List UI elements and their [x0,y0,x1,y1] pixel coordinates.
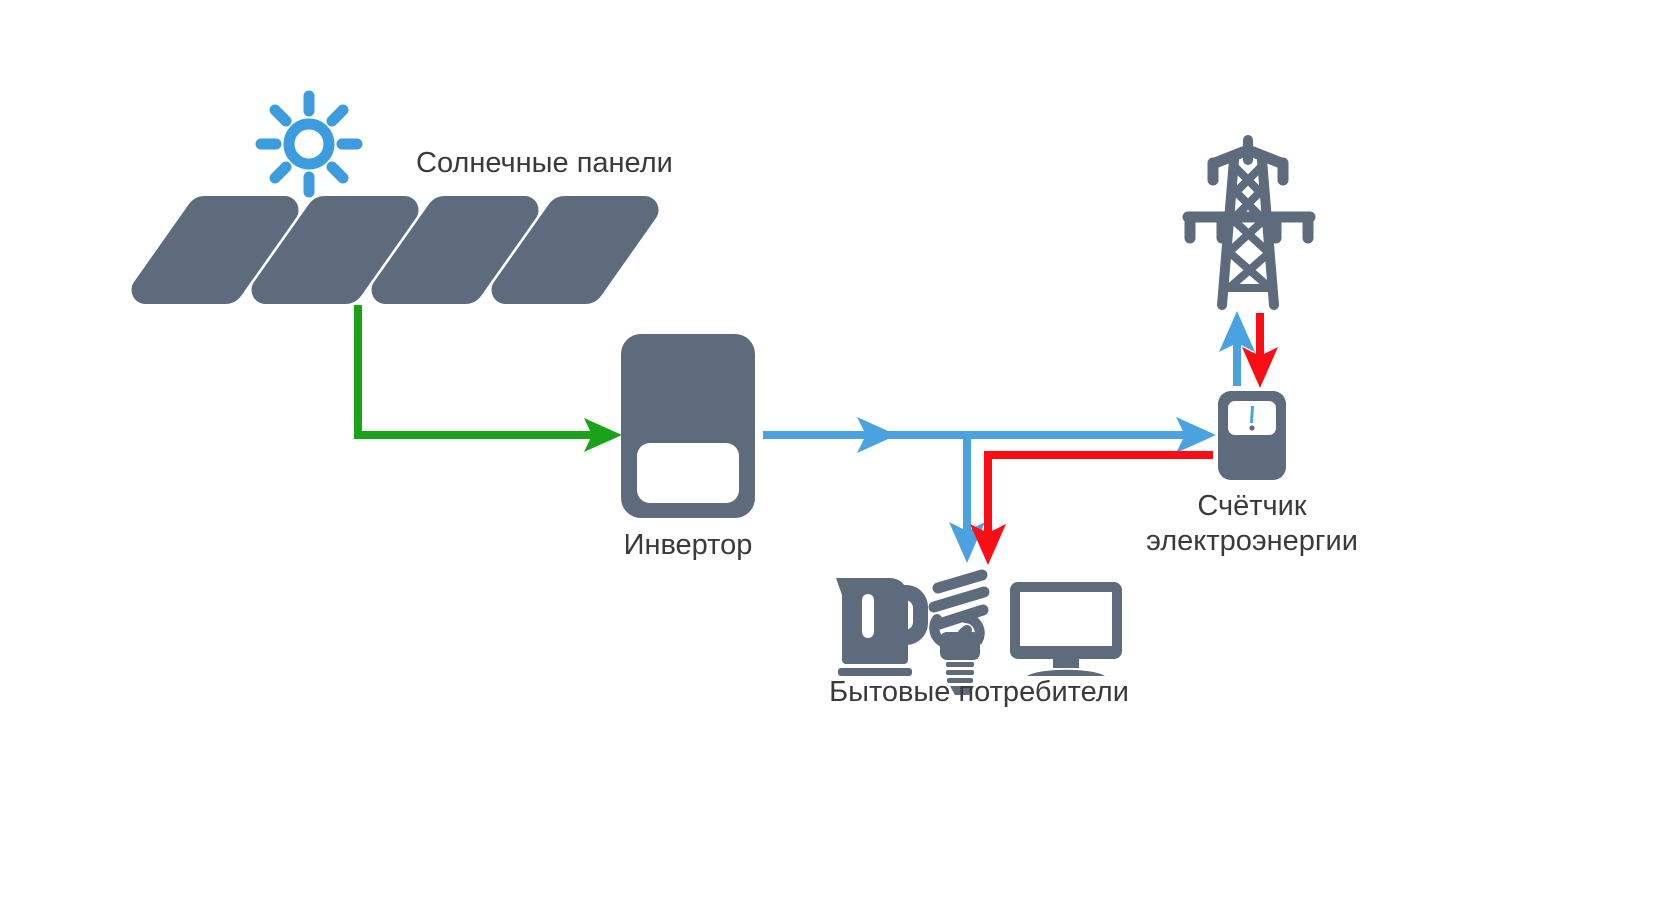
canvas-background [0,0,1680,899]
meter-label-line1: Счётчик [1197,490,1306,522]
monitor-screen [1020,592,1112,646]
kettle-window [862,594,874,638]
cfl-collar [940,632,980,660]
household-loads-label: Бытовые потребители [829,676,1129,708]
monitor-neck [1053,659,1079,668]
kettle-base [838,668,912,676]
solar-panels-label: Солнечные панели [416,147,673,179]
inverter-display [637,443,739,503]
inverter-label: Инвертор [624,529,753,561]
meter-pivot [1249,425,1254,430]
meter-label-line2: электроэнергии [1146,525,1358,557]
solar-system-diagram: Солнечные панели Инвертор Счётчик электр… [0,0,1680,899]
electricity-meter-icon [1218,391,1286,480]
diagram-canvas: Солнечные панели Инвертор Счётчик электр… [0,0,1680,899]
inverter-icon [621,334,755,518]
